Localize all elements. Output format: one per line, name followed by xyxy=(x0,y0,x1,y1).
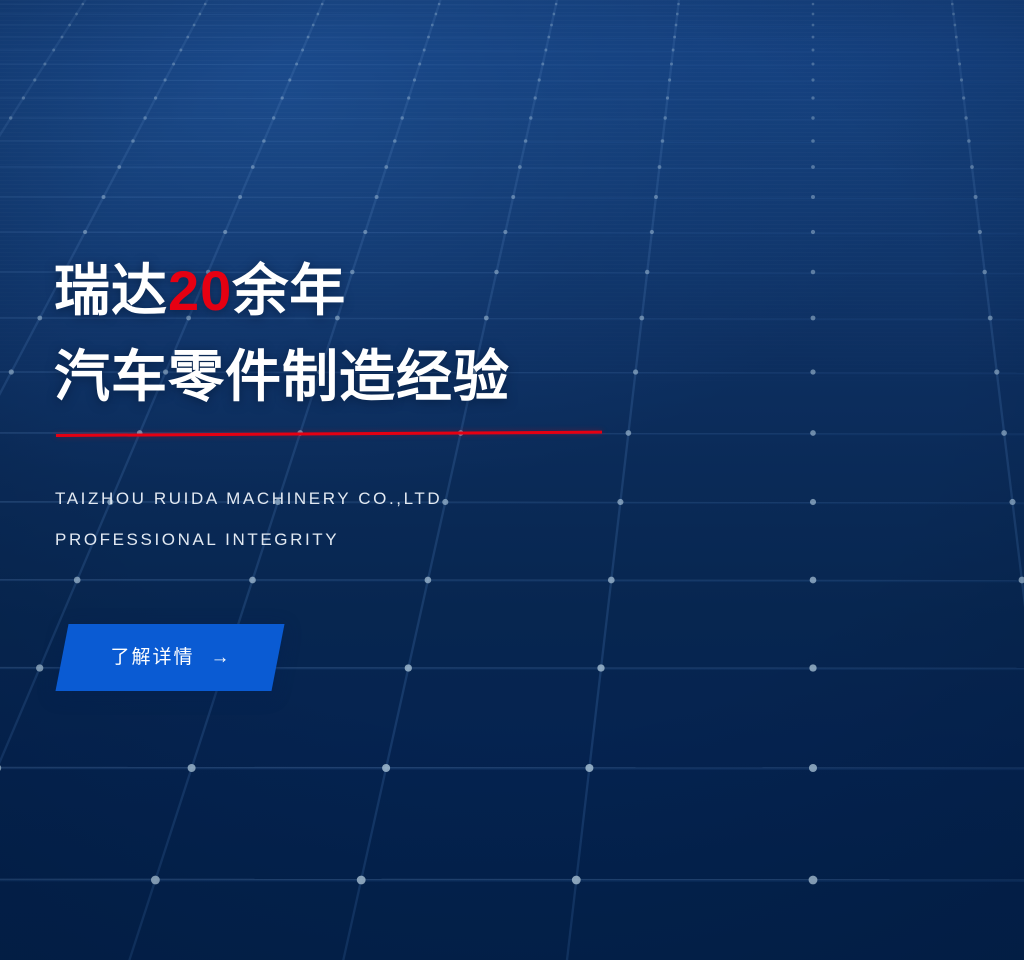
page-title: 瑞达20余年 汽车零件制造经验 xyxy=(54,248,510,420)
learn-more-label: 了解详情 xyxy=(110,648,194,667)
red-accent-rule xyxy=(56,431,602,437)
headline-prefix: 瑞达 xyxy=(54,259,168,322)
headline-line-1: 瑞达20余年 xyxy=(54,248,510,334)
learn-more-button[interactable]: 了解详情 → xyxy=(55,624,284,691)
hero-banner: 瑞达20余年 汽车零件制造经验 TAIZHOU RUIDA MACHINERY … xyxy=(0,0,1024,960)
headline-suffix: 余年 xyxy=(232,259,346,322)
headline-accent-number: 20 xyxy=(168,259,232,322)
subtitle-company-name: TAIZHOU RUIDA MACHINERY CO.,LTD xyxy=(55,489,442,509)
arrow-right-icon: → xyxy=(211,648,230,667)
learn-more-button-inner: 了解详情 → xyxy=(62,624,278,691)
headline-line-2: 汽车零件制造经验 xyxy=(54,334,510,420)
subtitle-tagline: PROFESSIONAL INTEGRITY xyxy=(55,530,339,550)
hero-content: 瑞达20余年 汽车零件制造经验 TAIZHOU RUIDA MACHINERY … xyxy=(0,0,1024,960)
